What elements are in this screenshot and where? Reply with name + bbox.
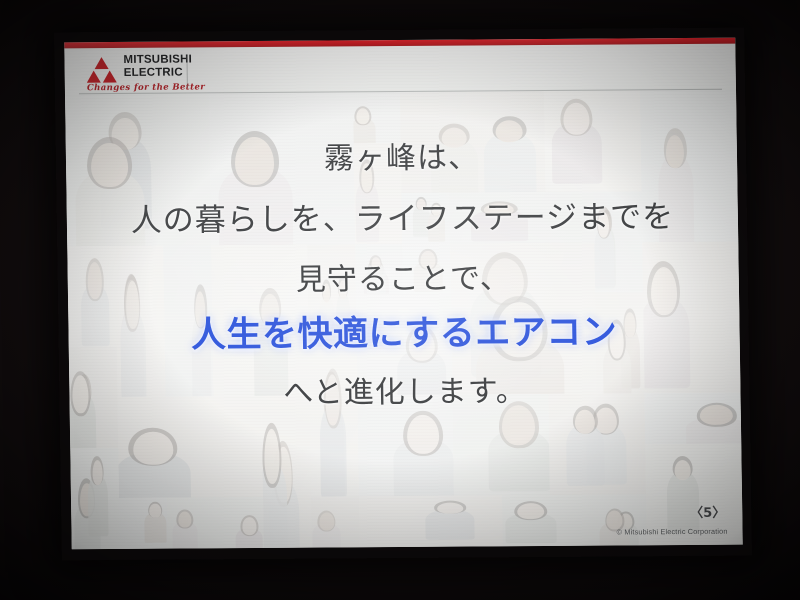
body-line-emphasis: 人生を快適にするエアコン <box>191 316 618 354</box>
body-line: へと進化します。 <box>283 377 527 409</box>
body-line: 見守ることで、 <box>296 264 511 295</box>
body-line: 霧ヶ峰は、 <box>324 143 479 174</box>
copyright-notice: © Mitsubishi Electric Corporation <box>617 527 728 537</box>
projector-photo: MITSUBISHI ELECTRIC Changes for the Bett… <box>0 0 800 600</box>
screen-bezel: MITSUBISHI ELECTRIC Changes for the Bett… <box>54 28 752 561</box>
slide-body-copy: 霧ヶ峰は、人の暮らしを、ライフステージまでを見守ることで、人生を快適にするエアコ… <box>64 38 743 550</box>
projection-screen: MITSUBISHI ELECTRIC Changes for the Bett… <box>54 28 752 561</box>
presentation-slide: MITSUBISHI ELECTRIC Changes for the Bett… <box>64 38 743 550</box>
page-number: 〈5〉 <box>690 502 725 521</box>
body-line: 人の暮らしを、ライフステージまでを <box>130 202 674 237</box>
